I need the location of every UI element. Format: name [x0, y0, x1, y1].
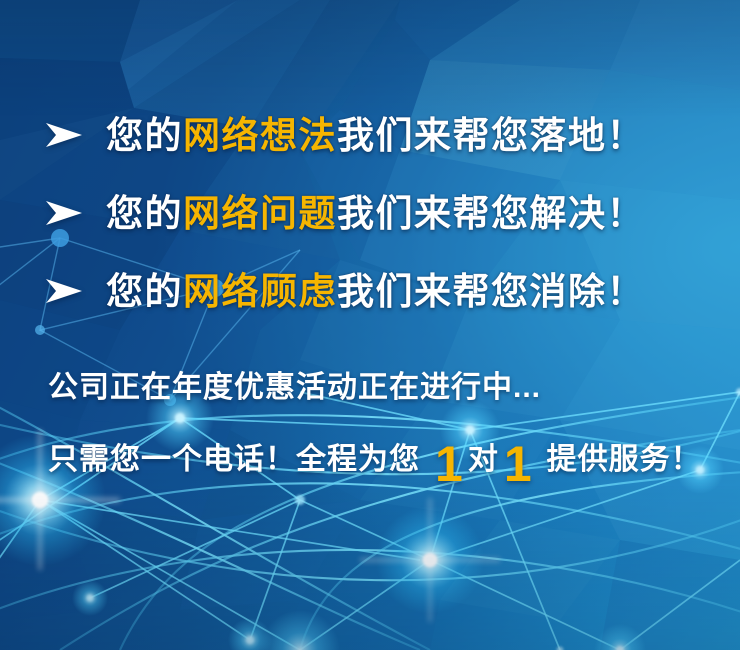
bullet-row-2: 您的网络问题我们来帮您解决！ [0, 174, 740, 252]
promo-notice-text: 公司正在年度优惠活动正在进行中... [48, 373, 541, 403]
bullet-text-2: 您的网络问题我们来帮您解决！ [106, 195, 645, 232]
bullet-3-suffix: 我们来帮您消除！ [337, 271, 645, 312]
bullet-row-3: 您的网络顾虑我们来帮您消除！ [0, 252, 740, 330]
subtext-block: 公司正在年度优惠活动正在进行中... 只需您一个电话！全程为您 1 对 1 提供… [0, 352, 740, 496]
bullet-3-highlight: 网络顾虑 [183, 271, 337, 312]
arrow-right-icon [44, 120, 84, 150]
subtext-row-2: 只需您一个电话！全程为您 1 对 1 提供服务！ [0, 424, 740, 496]
bullet-text-3: 您的网络顾虑我们来帮您消除！ [106, 273, 645, 310]
banner-content: 您的网络想法我们来帮您落地！ 您的网络问题我们来帮您解决！ 您的网络顾虑我们来帮… [0, 0, 740, 650]
bullet-1-prefix: 您的 [106, 115, 183, 156]
arrow-right-icon [44, 198, 84, 228]
bullet-2-prefix: 您的 [106, 193, 183, 234]
one-to-one-middle-char: 对 [468, 445, 499, 475]
bullet-3-prefix: 您的 [106, 271, 183, 312]
bullet-2-suffix: 我们来帮您解决！ [337, 193, 645, 234]
one-to-one-first-number: 1 [435, 439, 463, 489]
bullet-2-highlight: 网络问题 [183, 193, 337, 234]
bullet-row-1: 您的网络想法我们来帮您落地！ [0, 96, 740, 174]
arrow-right-icon [44, 276, 84, 306]
bullet-list: 您的网络想法我们来帮您落地！ 您的网络问题我们来帮您解决！ 您的网络顾虑我们来帮… [0, 96, 740, 330]
bullet-1-highlight: 网络想法 [183, 115, 337, 156]
bullet-1-suffix: 我们来帮您落地！ [337, 115, 645, 156]
service-pitch-part1: 只需您一个电话！全程为您 [48, 445, 420, 475]
bullet-text-1: 您的网络想法我们来帮您落地！ [106, 117, 645, 154]
service-pitch-part2: 提供服务！ [547, 445, 702, 475]
subtext-row-1: 公司正在年度优惠活动正在进行中... [0, 352, 740, 424]
promo-banner: 您的网络想法我们来帮您落地！ 您的网络问题我们来帮您解决！ 您的网络顾虑我们来帮… [0, 0, 740, 650]
one-to-one-second-number: 1 [504, 439, 532, 489]
